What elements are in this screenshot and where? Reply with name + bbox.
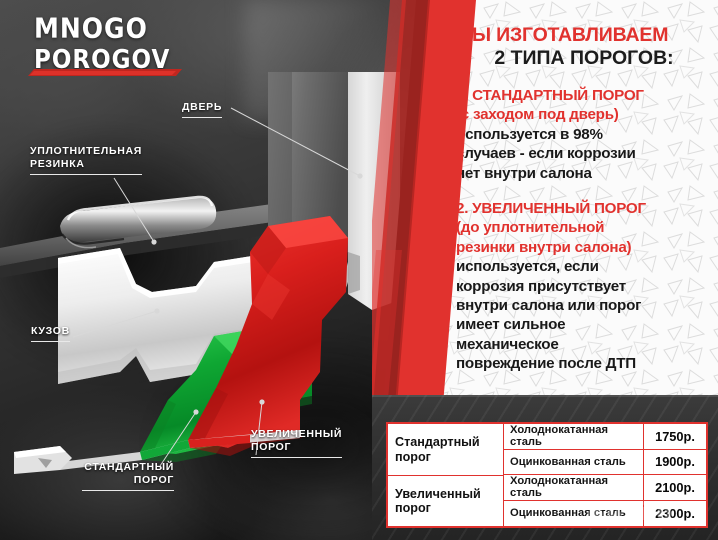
logo-line-1: MNOGO xyxy=(34,14,204,42)
price-row-type-standard: Стандартный порог xyxy=(388,424,504,475)
price-row-price-1: 1750р. xyxy=(644,424,706,450)
brand-logo: MNOGO POROGOV xyxy=(34,14,204,70)
label-extended-sill: УВЕЛИЧЕННЫЙ ПОРОГ xyxy=(251,428,342,458)
label-door: ДВЕРЬ xyxy=(182,101,222,118)
logo-underline-icon xyxy=(26,66,196,80)
price-row-price-4: 2300р. xyxy=(644,501,706,527)
price-row-material-1: Холоднокатанная сталь xyxy=(504,424,644,450)
hatch-top-edge xyxy=(372,395,718,397)
label-standard-sill: СТАНДАРТНЫЙ ПОРОГ xyxy=(82,461,174,491)
label-body: КУЗОВ xyxy=(31,325,70,342)
price-row-type-extended: Увеличенный порог xyxy=(388,475,504,526)
price-row-material-3: Холоднокатанная сталь xyxy=(504,475,644,501)
label-seal-rubber: УПЛОТНИТЕЛЬНАЯ РЕЗИНКА xyxy=(30,145,142,175)
price-row-material-2: Оцинкованная сталь xyxy=(504,450,644,476)
price-row-price-3: 2100р. xyxy=(644,475,706,501)
sill-lower-flange xyxy=(14,446,72,474)
price-row-price-2: 1900р. xyxy=(644,450,706,476)
price-table: Стандартный порог Холоднокатанная сталь … xyxy=(386,422,708,528)
infographic-canvas: ДВЕРЬ УПЛОТНИТЕЛЬНАЯ РЕЗИНКА КУЗОВ СТАНД… xyxy=(0,0,718,540)
price-row-material-4: Оцинкованная сталь xyxy=(504,501,644,527)
